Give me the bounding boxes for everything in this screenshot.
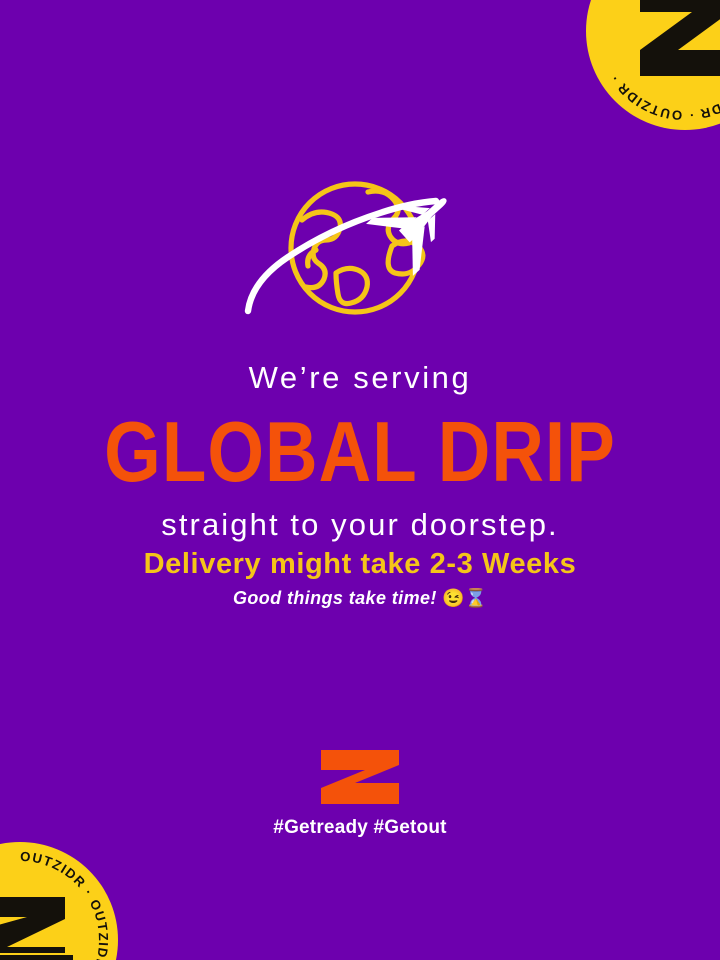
delivery-reassurance: Good things take time! 😉⌛ <box>0 588 720 609</box>
delivery-reassurance-text: Good things take time! <box>233 588 437 608</box>
seal-z-mark-top-right <box>626 0 720 90</box>
outzidr-seal-bottom-left: OUTZIDR · OUTZIDR · OUTZIDR · OUTZIDR · … <box>0 842 118 960</box>
seal-z-wordmark-bottom-left: OUTZIDR <box>0 881 79 960</box>
z-logo <box>319 748 401 806</box>
delivery-notice: Delivery might take 2-3 Weeks <box>0 548 720 581</box>
footer-block: #Getready #Getout <box>0 748 720 839</box>
page-title: GLOBAL DRIP <box>0 404 720 500</box>
wink-hourglass-emoji: 😉⌛ <box>442 588 487 608</box>
headline-subtitle: straight to your doorstep. <box>0 509 720 542</box>
footer-hashtags: #Getready #Getout <box>0 817 720 839</box>
promo-poster: OUTZIDR · OUTZIDR · OUTZIDR · OUTZIDR · … <box>0 0 720 960</box>
headline-block: We’re serving GLOBAL DRIP straight to yo… <box>0 362 720 541</box>
headline-eyebrow: We’re serving <box>0 362 720 395</box>
globe-with-airplane-icon <box>240 172 480 342</box>
outzidr-seal-top-right: OUTZIDR · OUTZIDR · OUTZIDR · OUTZIDR · <box>586 0 720 130</box>
